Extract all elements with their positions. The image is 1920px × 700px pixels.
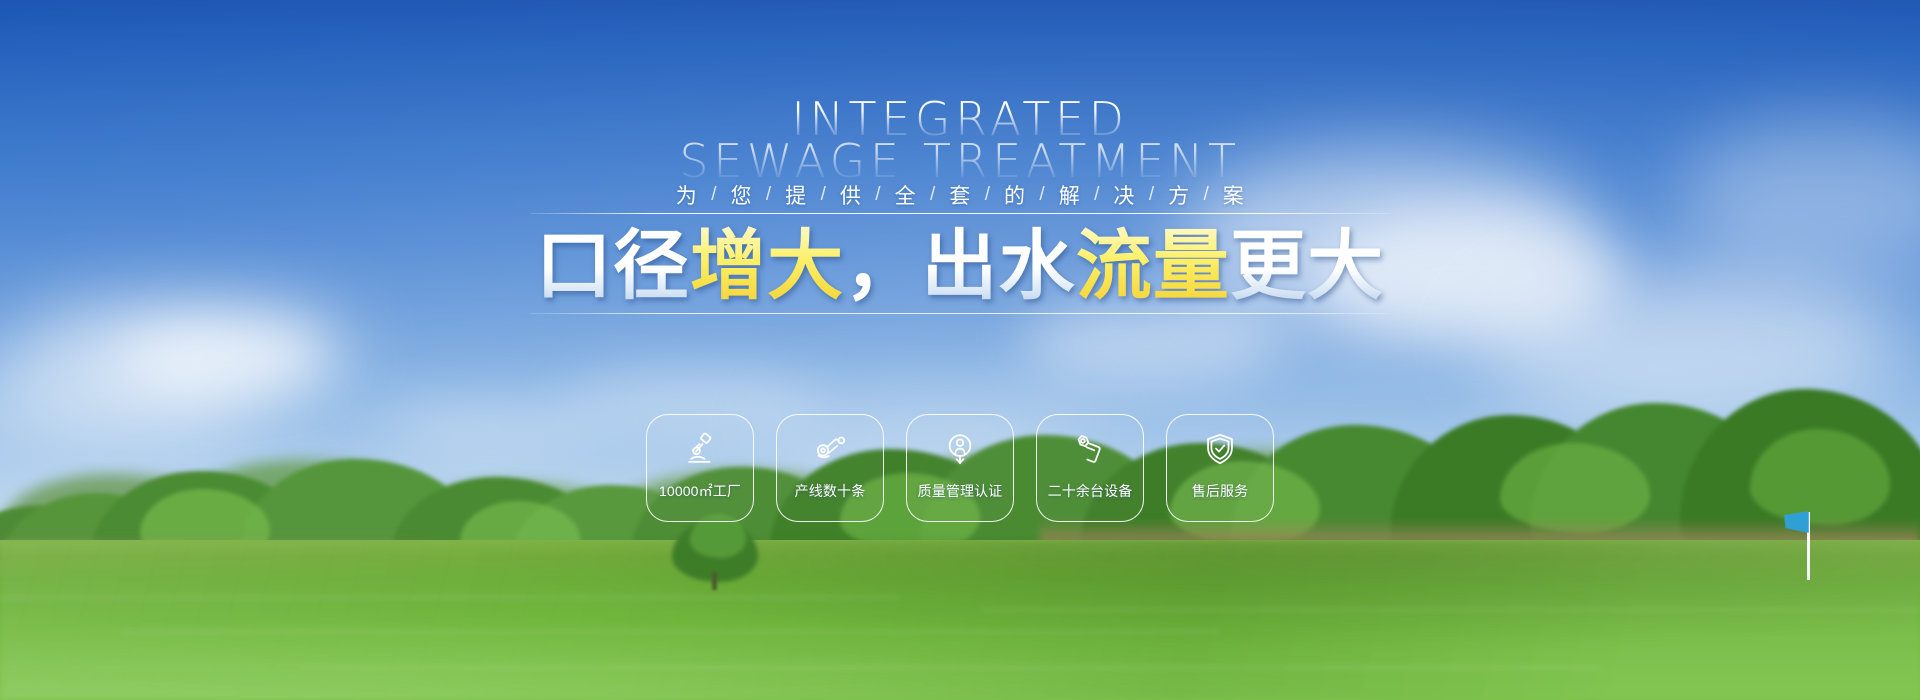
- tagline-char: 解: [1045, 180, 1094, 210]
- headline-segment: ，: [844, 226, 921, 308]
- feature-badge-label: 产线数十条: [795, 481, 866, 501]
- tagline-char: 提: [771, 180, 820, 210]
- production-line-icon: [812, 431, 848, 467]
- main-headline: 口径增大，出水流量更大: [0, 226, 1920, 308]
- headline-segment: 流量: [1076, 226, 1230, 308]
- feature-badge-4[interactable]: 二十余台设备: [1036, 414, 1144, 522]
- tagline-char: 全: [881, 180, 930, 210]
- tagline-char: 您: [716, 180, 765, 210]
- feature-badge-5[interactable]: 售后服务: [1166, 414, 1274, 522]
- feature-badge-label: 质量管理认证: [918, 481, 1003, 501]
- headline-segment: 出水: [921, 226, 1075, 308]
- tagline-char: 的: [990, 180, 1039, 210]
- feature-badge-1[interactable]: 10000㎡工厂: [646, 414, 754, 522]
- fairway-shading: [0, 540, 1920, 700]
- tagline-char: 案: [1209, 180, 1258, 210]
- microscope-icon: [682, 431, 718, 467]
- english-headline-group: INTEGRATED SEWAGE TREATMENT: [0, 96, 1920, 184]
- tagline-char: 套: [935, 180, 984, 210]
- valve-equipment-icon: [1072, 431, 1108, 467]
- tagline-char: 方: [1154, 180, 1203, 210]
- feature-badge-2[interactable]: 产线数十条: [776, 414, 884, 522]
- english-line-2: SEWAGE TREATMENT: [0, 138, 1920, 184]
- tagline-char: 供: [826, 180, 875, 210]
- headline-segment: 更大: [1230, 226, 1384, 308]
- headline-segment: 口径: [536, 226, 690, 308]
- feature-badge-3[interactable]: 质量管理认证: [906, 414, 1014, 522]
- hero-banner: INTEGRATED SEWAGE TREATMENT 为/您/提/供/全/套/…: [0, 0, 1920, 700]
- feature-badge-label: 10000㎡工厂: [659, 481, 741, 501]
- feature-badge-label: 售后服务: [1192, 481, 1249, 501]
- divider-top: [530, 213, 1390, 214]
- tagline-char: 为: [662, 180, 711, 210]
- feature-badge-label: 二十余台设备: [1048, 481, 1133, 501]
- feature-badge-row: 10000㎡工厂产线数十条质量管理认证二十余台设备售后服务: [0, 414, 1920, 522]
- certification-person-icon: [942, 431, 978, 467]
- chinese-tagline: 为/您/提/供/全/套/的/解/决/方/案: [0, 180, 1920, 210]
- tagline-char: 决: [1099, 180, 1148, 210]
- shield-check-icon: [1202, 431, 1238, 467]
- headline-segment: 增大: [690, 226, 844, 308]
- divider-bottom: [530, 313, 1390, 314]
